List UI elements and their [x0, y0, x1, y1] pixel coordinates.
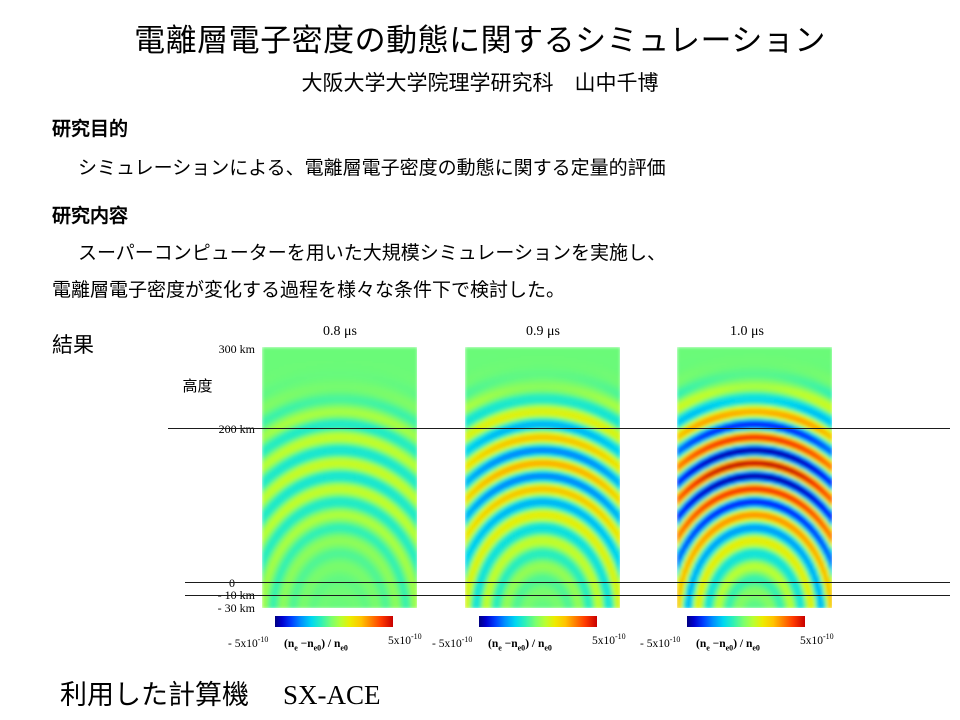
y-tick-minus30km: - 30 km — [150, 601, 255, 615]
colorbar-center-label-1: (ne −ne0) / ne0 — [488, 637, 552, 655]
panel-title-1: 0.9 μs — [458, 323, 628, 340]
page-title: 電離層電子密度の動態に関するシミュレーション — [0, 22, 960, 60]
section-body-purpose: シミュレーションによる、電離層電子密度の動態に関する定量的評価 — [78, 155, 666, 181]
panel-title-0: 0.8 μs — [255, 323, 425, 340]
colorbar-max-label-2: 5x10-10 — [800, 630, 834, 648]
reference-line-0km — [185, 582, 950, 583]
y-axis-title: 高度 — [150, 377, 245, 396]
colorbar-max-label-1: 5x10-10 — [592, 630, 626, 648]
heatmap-panel-2 — [677, 347, 832, 608]
colorbar-gradient-1 — [479, 616, 597, 627]
heatmap-panel-0 — [262, 347, 417, 608]
section-body-content-line2: 電離層電子密度が変化する過程を様々な条件下で検討した。 — [52, 277, 565, 303]
colorbar-max-label-0: 5x10-10 — [388, 630, 422, 648]
section-heading-content: 研究内容 — [52, 204, 128, 228]
colorbar-min-label-0: - 5x10-10 — [228, 633, 268, 651]
colorbar-gradient-2 — [687, 616, 805, 627]
page-subtitle: 大阪大学大学院理学研究科 山中千博 — [0, 70, 960, 96]
reference-line-minus10km — [185, 595, 950, 596]
footer-machine-name: SX-ACE — [283, 680, 381, 710]
colorbar-group-1: - 5x10-10 (ne −ne0) / ne0 5x10-10 — [432, 616, 662, 658]
colorbar-center-label-2: (ne −ne0) / ne0 — [696, 637, 760, 655]
colorbar-group-2: - 5x10-10 (ne −ne0) / ne0 5x10-10 — [640, 616, 870, 658]
heatmap-panel-1 — [465, 347, 620, 608]
section-heading-purpose: 研究目的 — [52, 117, 128, 141]
slide-root: 電離層電子密度の動態に関するシミュレーション 大阪大学大学院理学研究科 山中千博… — [0, 0, 960, 720]
reference-line-200km — [168, 428, 950, 429]
footer-label: 利用した計算機 — [60, 680, 249, 711]
results-figure: 300 km 高度 200 km 0 - 10 km - 30 km 0.8 μ… — [0, 330, 960, 675]
colorbar-min-label-2: - 5x10-10 — [640, 633, 680, 651]
footer-machine: 利用した計算機SX-ACE — [60, 678, 381, 713]
panel-title-2: 1.0 μs — [662, 323, 832, 340]
colorbar-center-label-0: (ne −ne0) / ne0 — [284, 637, 348, 655]
y-tick-300km: 300 km — [150, 342, 255, 356]
colorbar-gradient-0 — [275, 616, 393, 627]
y-tick-200km: 200 km — [150, 422, 255, 436]
colorbar-min-label-1: - 5x10-10 — [432, 633, 472, 651]
section-body-content-line1: スーパーコンピューターを用いた大規模シミュレーションを実施し、 — [78, 240, 666, 266]
colorbar-group-0: - 5x10-10 (ne −ne0) / ne0 5x10-10 — [228, 616, 458, 658]
